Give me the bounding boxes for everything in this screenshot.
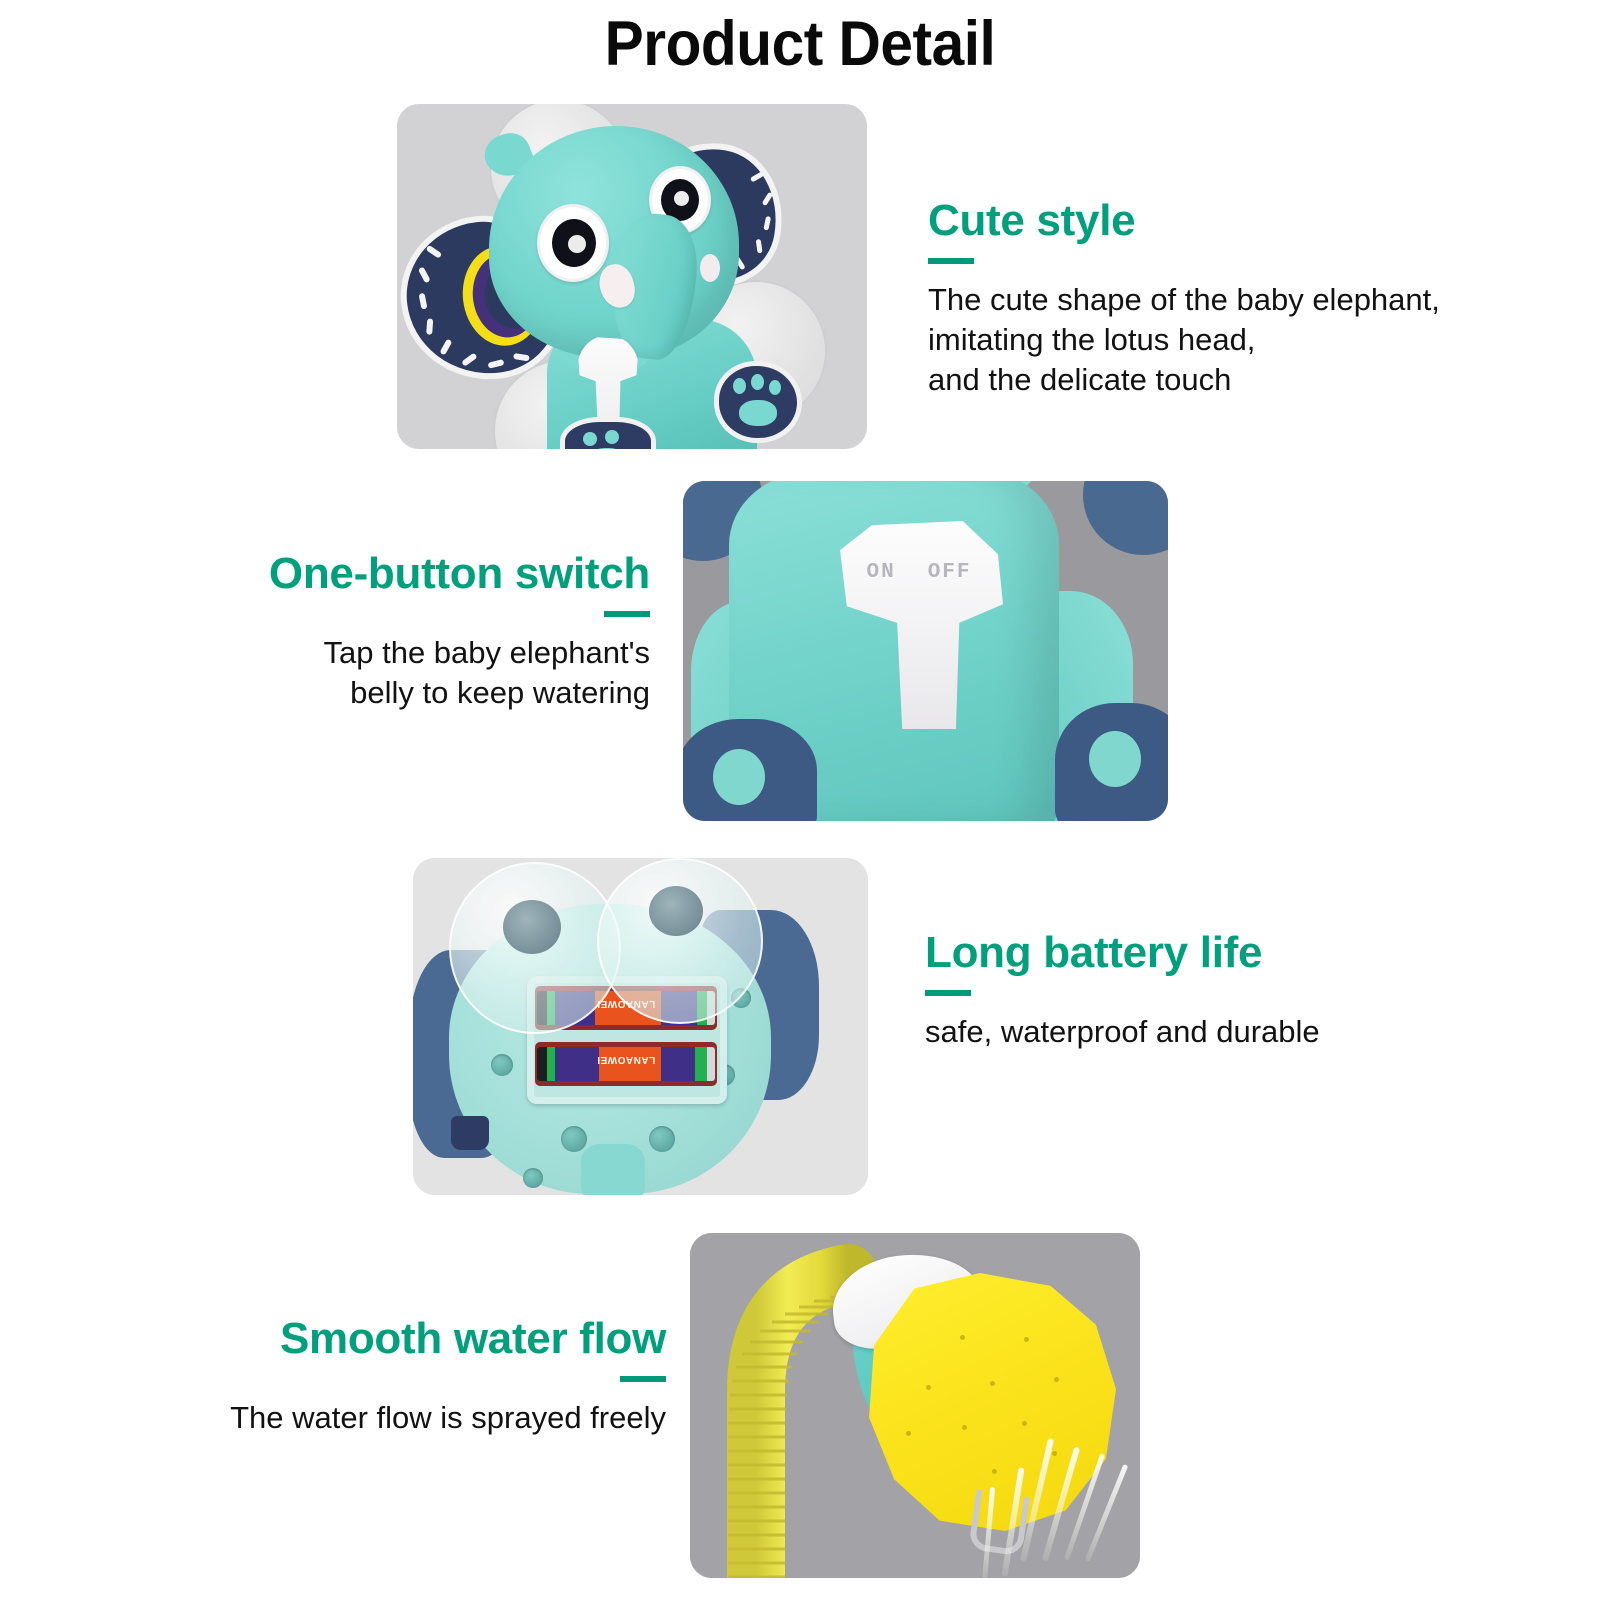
elephant-paw-print bbox=[719, 366, 797, 438]
product-detail-page: Product Detail bbox=[0, 0, 1600, 1600]
feature-heading: Cute style bbox=[928, 198, 1440, 244]
suction-cup-stem bbox=[649, 886, 703, 936]
battery-brand-label: LANAOWEI bbox=[537, 1054, 715, 1065]
feature-body-line: belly to keep watering bbox=[269, 673, 650, 713]
switch-label-on: ON bbox=[866, 561, 895, 584]
feature-text-cute-style: Cute style The cute shape of the baby el… bbox=[928, 198, 1440, 399]
feature-text-long-battery-life: Long battery life safe, waterproof and d… bbox=[925, 930, 1320, 1052]
screw-icon bbox=[523, 1168, 543, 1188]
page-title: Product Detail bbox=[56, 8, 1544, 80]
feature-body-line: Tap the baby elephant's bbox=[269, 633, 650, 673]
elephant-trunk-base bbox=[581, 1144, 645, 1195]
feature-body-line: safe, waterproof and durable bbox=[925, 1012, 1320, 1052]
feature-image-long-battery-life: LANAOWEI LANAOWEI bbox=[413, 858, 868, 1195]
feature-body-line: The cute shape of the baby elephant, bbox=[928, 280, 1440, 320]
feature-heading: Smooth water flow bbox=[230, 1316, 666, 1362]
feature-image-cute-style bbox=[397, 104, 867, 449]
shower-head bbox=[820, 1255, 1130, 1555]
feature-heading: Long battery life bbox=[925, 930, 1320, 976]
screw-icon bbox=[561, 1126, 587, 1152]
feature-body-line: and the delicate touch bbox=[928, 360, 1440, 400]
switch-label-off: OFF bbox=[928, 561, 972, 584]
elephant-foot-left bbox=[683, 719, 817, 821]
suction-cup-stem bbox=[503, 900, 561, 954]
on-off-switch-labels: ONOFF bbox=[835, 561, 1003, 584]
shower-head-hook bbox=[968, 1490, 1030, 1557]
feature-text-smooth-water-flow: Smooth water flow The water flow is spra… bbox=[230, 1316, 666, 1438]
heading-underline-dash bbox=[928, 258, 974, 264]
feature-text-one-button-switch: One-button switch Tap the baby elephant'… bbox=[269, 551, 650, 713]
water-inlet-nozzle bbox=[451, 1116, 489, 1150]
suction-cup-icon bbox=[597, 858, 763, 1024]
battery-slot: LANAOWEI bbox=[535, 1042, 717, 1086]
screw-icon bbox=[491, 1054, 513, 1076]
feature-body-line: imitating the lotus head, bbox=[928, 320, 1440, 360]
screw-icon bbox=[649, 1126, 675, 1152]
feature-body-line: The water flow is sprayed freely bbox=[230, 1398, 666, 1438]
elephant-foot-right bbox=[1055, 703, 1168, 821]
elephant-eye-left bbox=[537, 204, 609, 282]
battery-cell: LANAOWEI bbox=[537, 1047, 715, 1081]
feature-image-one-button-switch: ONOFF bbox=[683, 481, 1168, 821]
heading-underline-dash bbox=[925, 990, 971, 996]
feature-image-smooth-water-flow bbox=[690, 1233, 1140, 1578]
elephant-tusk-right bbox=[700, 254, 720, 282]
heading-underline-dash bbox=[620, 1376, 666, 1382]
feature-heading: One-button switch bbox=[269, 551, 650, 597]
heading-underline-dash bbox=[604, 611, 650, 617]
elephant-foot bbox=[565, 422, 651, 449]
elephant-head bbox=[489, 126, 739, 358]
